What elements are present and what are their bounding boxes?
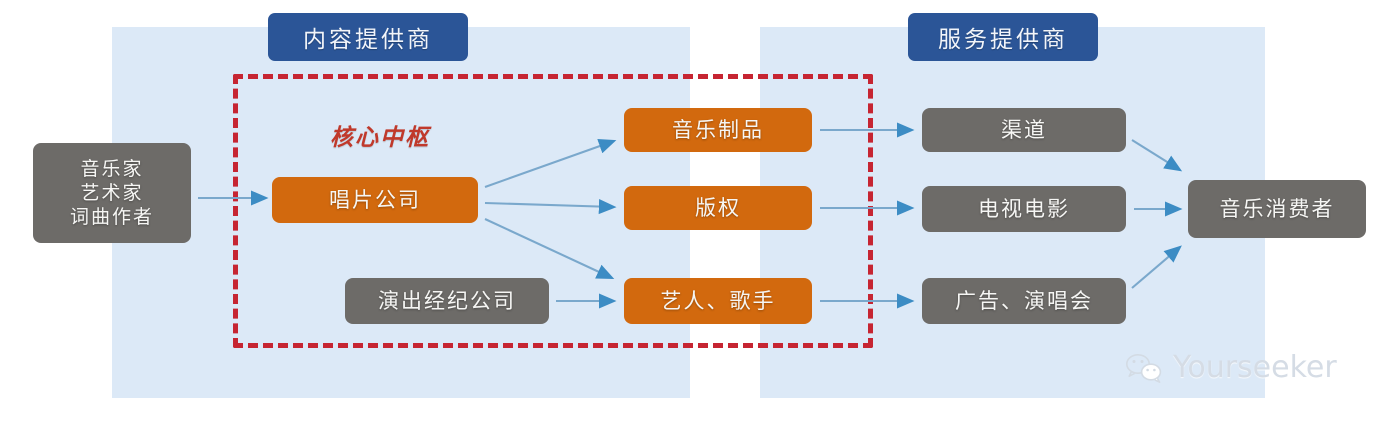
node-label-company[interactable]: 唱片公司 [272, 177, 478, 223]
node-performance-agency-label: 演出经纪公司 [378, 288, 516, 315]
node-channel[interactable]: 渠道 [922, 108, 1126, 152]
node-artists-singers[interactable]: 艺人、歌手 [624, 278, 812, 324]
node-ads-concerts[interactable]: 广告、演唱会 [922, 278, 1126, 324]
banner-service-provider: 服务提供商 [908, 13, 1098, 61]
watermark: Yourseeker [1125, 350, 1337, 385]
node-tv-film[interactable]: 电视电影 [922, 186, 1126, 232]
node-creators-line1: 音乐家 [80, 157, 143, 181]
node-label-company-label: 唱片公司 [329, 187, 421, 214]
node-tv-film-label: 电视电影 [978, 196, 1070, 223]
banner-service-provider-label: 服务提供商 [938, 20, 1068, 54]
node-music-products[interactable]: 音乐制品 [624, 108, 812, 152]
node-channel-label: 渠道 [1001, 117, 1047, 144]
node-music-consumer[interactable]: 音乐消费者 [1188, 180, 1366, 238]
watermark-text: Yourseeker [1173, 350, 1337, 385]
banner-content-provider: 内容提供商 [268, 13, 468, 61]
node-artists-singers-label: 艺人、歌手 [661, 288, 776, 315]
node-creators-line2: 艺术家 [80, 181, 143, 205]
node-performance-agency[interactable]: 演出经纪公司 [345, 278, 549, 324]
node-ads-concerts-label: 广告、演唱会 [955, 288, 1093, 315]
node-copyright[interactable]: 版权 [624, 186, 812, 230]
core-hub-label: 核心中枢 [330, 118, 430, 152]
node-creators-line3: 词曲作者 [70, 205, 154, 229]
wechat-icon [1125, 352, 1163, 384]
diagram-canvas: 内容提供商 服务提供商 核心中枢 音乐家 艺术家 词曲作者 [0, 0, 1397, 427]
node-music-consumer-label: 音乐消费者 [1220, 196, 1335, 223]
node-music-products-label: 音乐制品 [672, 117, 764, 144]
node-copyright-label: 版权 [695, 195, 741, 222]
banner-content-provider-label: 内容提供商 [303, 20, 433, 54]
node-creators[interactable]: 音乐家 艺术家 词曲作者 [33, 143, 191, 243]
